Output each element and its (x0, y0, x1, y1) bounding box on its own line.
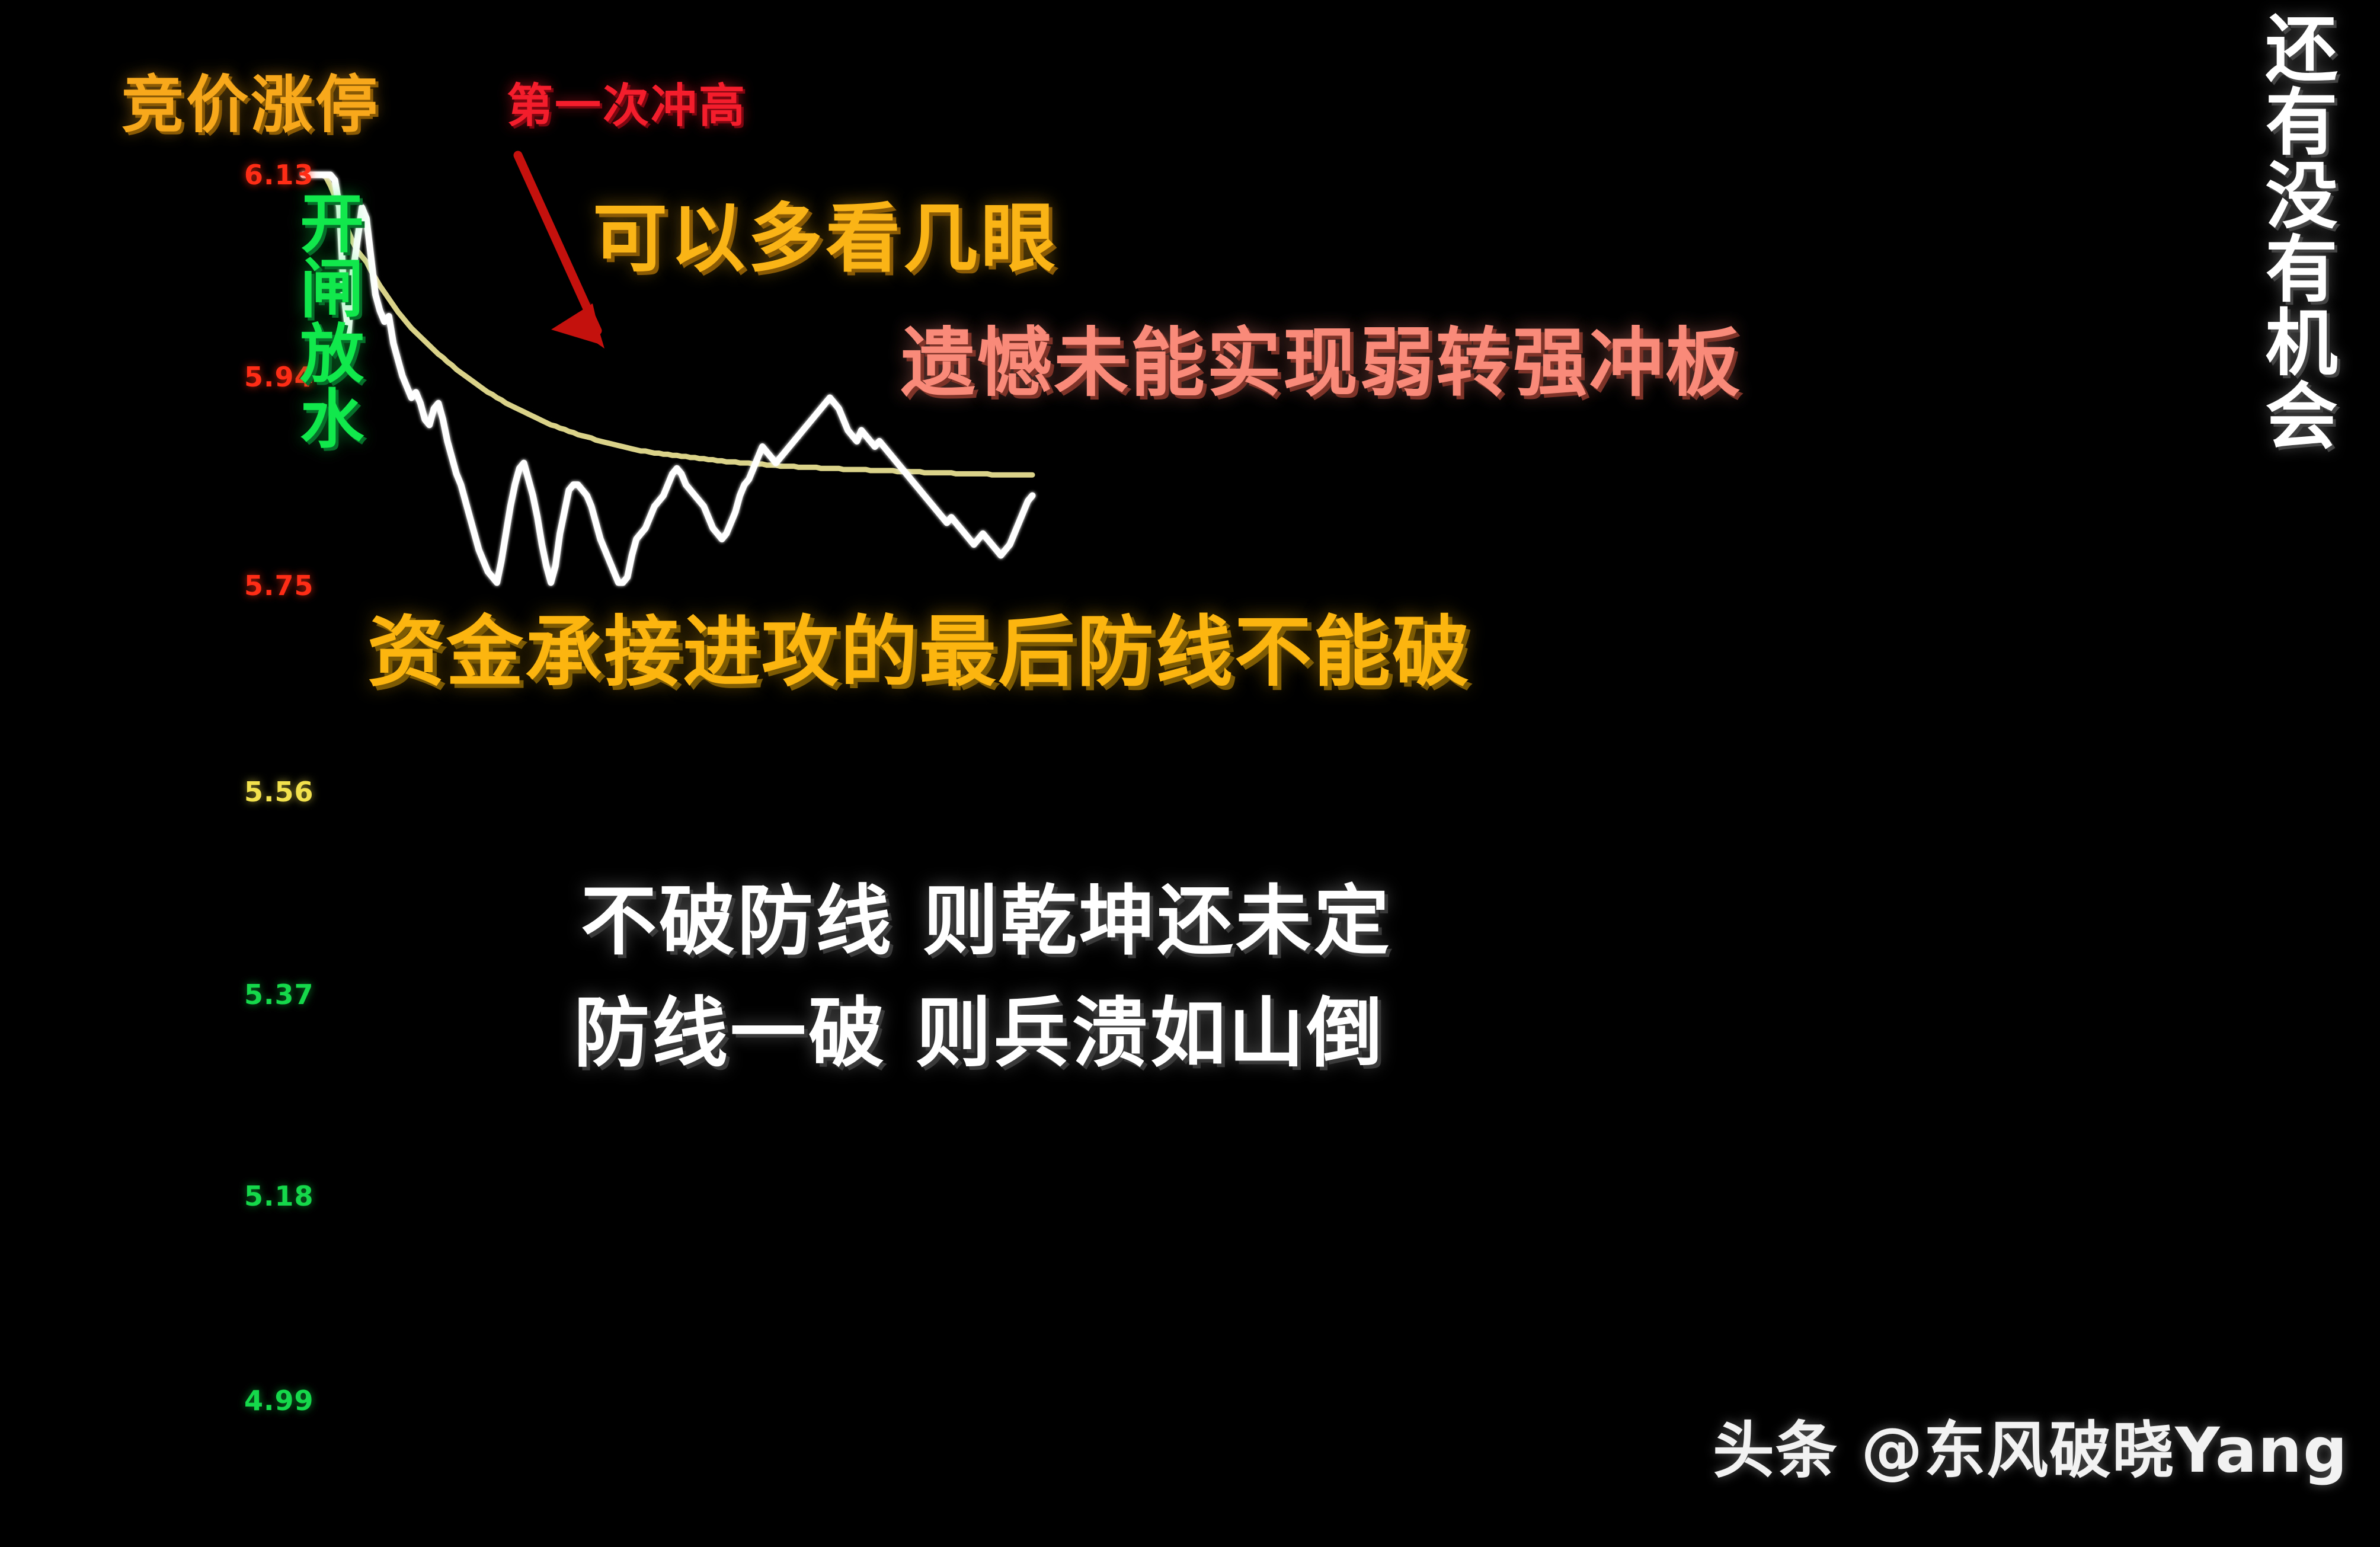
axis-label-537: 5.37 (244, 981, 314, 1008)
quote-line-1: 不破防线 则乾坤还未定 (581, 865, 1392, 977)
annotation-arrow-icon (518, 155, 604, 349)
annotation-bid-limit-up: 竞价涨停 (121, 74, 380, 136)
axis-label-518: 5.18 (244, 1182, 314, 1210)
annotation-open-gate-release-water: 开闸放水 (293, 190, 359, 450)
annotation-last-defense-line: 资金承接进攻的最后防线不能破 (367, 613, 1471, 691)
axis-label-499: 4.99 (244, 1387, 314, 1414)
axis-label-613: 6.13 (244, 161, 314, 188)
watermark: 头条 @东风破晓Yang (1713, 1420, 2349, 1481)
axis-label-556: 5.56 (244, 778, 314, 806)
annotation-first-push: 第一次冲高 (507, 83, 747, 129)
quote-line-2: 防线一破 则兵溃如山倒 (574, 977, 1392, 1089)
annotation-vertical-question: 还有没有机会 (2247, 11, 2343, 452)
annotation-can-watch-more: 可以多看几眼 (593, 202, 1058, 276)
screenshot-root: 6.13 5.94 5.75 5.56 5.37 5.18 4.99 竞价涨停 … (0, 0, 2380, 1547)
annotation-quote-block: 不破防线 则乾坤还未定 防线一破 则兵溃如山倒 (581, 865, 1392, 1090)
annotation-regret-line: 遗憾未能实现弱转强冲板 (901, 326, 1742, 401)
axis-label-575: 5.75 (244, 572, 314, 599)
